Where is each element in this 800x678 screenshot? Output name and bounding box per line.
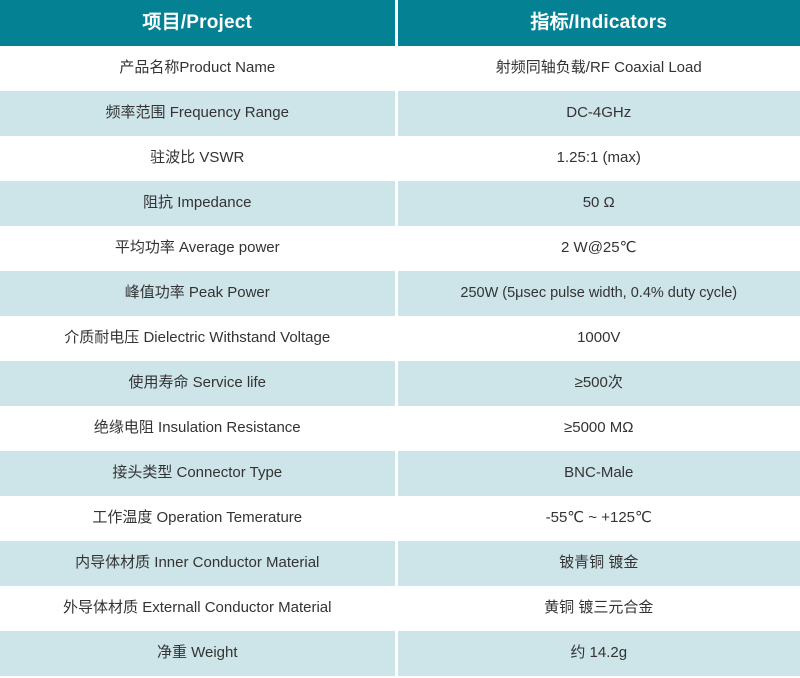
cell-project: 介质耐电压 Dielectric Withstand Voltage (0, 316, 396, 361)
table-row: 外导体材质 Externall Conductor Material 黄铜 镀三… (0, 586, 800, 631)
table-row: 接头类型 Connector Type BNC-Male (0, 451, 800, 496)
cell-indicator: -55℃ ~ +125℃ (396, 496, 800, 541)
cell-project: 峰值功率 Peak Power (0, 271, 396, 316)
specification-table: 项目/Project 指标/Indicators 产品名称Product Nam… (0, 0, 800, 676)
table-row: 绝缘电阻 Insulation Resistance ≥5000 MΩ (0, 406, 800, 451)
table-header: 项目/Project 指标/Indicators (0, 0, 800, 46)
table-row: 介质耐电压 Dielectric Withstand Voltage 1000V (0, 316, 800, 361)
table-row: 频率范围 Frequency Range DC-4GHz (0, 91, 800, 136)
cell-indicator: BNC-Male (396, 451, 800, 496)
cell-project: 净重 Weight (0, 631, 396, 676)
cell-indicator: 250W (5μsec pulse width, 0.4% duty cycle… (396, 271, 800, 316)
table-row: 使用寿命 Service life ≥500次 (0, 361, 800, 406)
cell-project: 频率范围 Frequency Range (0, 91, 396, 136)
cell-project: 阻抗 Impedance (0, 181, 396, 226)
column-header-project: 项目/Project (0, 0, 396, 46)
cell-project: 接头类型 Connector Type (0, 451, 396, 496)
cell-indicator: 50 Ω (396, 181, 800, 226)
cell-indicator: 约 14.2g (396, 631, 800, 676)
cell-indicator: 铍青铜 镀金 (396, 541, 800, 586)
column-header-indicators: 指标/Indicators (396, 0, 800, 46)
cell-indicator: DC-4GHz (396, 91, 800, 136)
table-row: 产品名称Product Name 射频同轴负载/RF Coaxial Load (0, 46, 800, 91)
cell-indicator: 1000V (396, 316, 800, 361)
cell-project: 平均功率 Average power (0, 226, 396, 271)
cell-indicator: 黄铜 镀三元合金 (396, 586, 800, 631)
cell-project: 内导体材质 Inner Conductor Material (0, 541, 396, 586)
table-row: 工作温度 Operation Temerature -55℃ ~ +125℃ (0, 496, 800, 541)
cell-project: 外导体材质 Externall Conductor Material (0, 586, 396, 631)
cell-indicator: ≥5000 MΩ (396, 406, 800, 451)
cell-indicator: 射频同轴负载/RF Coaxial Load (396, 46, 800, 91)
table-row: 峰值功率 Peak Power 250W (5μsec pulse width,… (0, 271, 800, 316)
table-row: 内导体材质 Inner Conductor Material 铍青铜 镀金 (0, 541, 800, 586)
cell-project: 使用寿命 Service life (0, 361, 396, 406)
table-row: 阻抗 Impedance 50 Ω (0, 181, 800, 226)
cell-indicator: 1.25:1 (max) (396, 136, 800, 181)
header-row: 项目/Project 指标/Indicators (0, 0, 800, 46)
cell-project: 绝缘电阻 Insulation Resistance (0, 406, 396, 451)
cell-indicator: ≥500次 (396, 361, 800, 406)
cell-project: 驻波比 VSWR (0, 136, 396, 181)
table-row: 驻波比 VSWR 1.25:1 (max) (0, 136, 800, 181)
cell-indicator: 2 W@25℃ (396, 226, 800, 271)
cell-project: 产品名称Product Name (0, 46, 396, 91)
table-row: 净重 Weight 约 14.2g (0, 631, 800, 676)
table-row: 平均功率 Average power 2 W@25℃ (0, 226, 800, 271)
cell-project: 工作温度 Operation Temerature (0, 496, 396, 541)
table-body: 产品名称Product Name 射频同轴负载/RF Coaxial Load … (0, 46, 800, 676)
